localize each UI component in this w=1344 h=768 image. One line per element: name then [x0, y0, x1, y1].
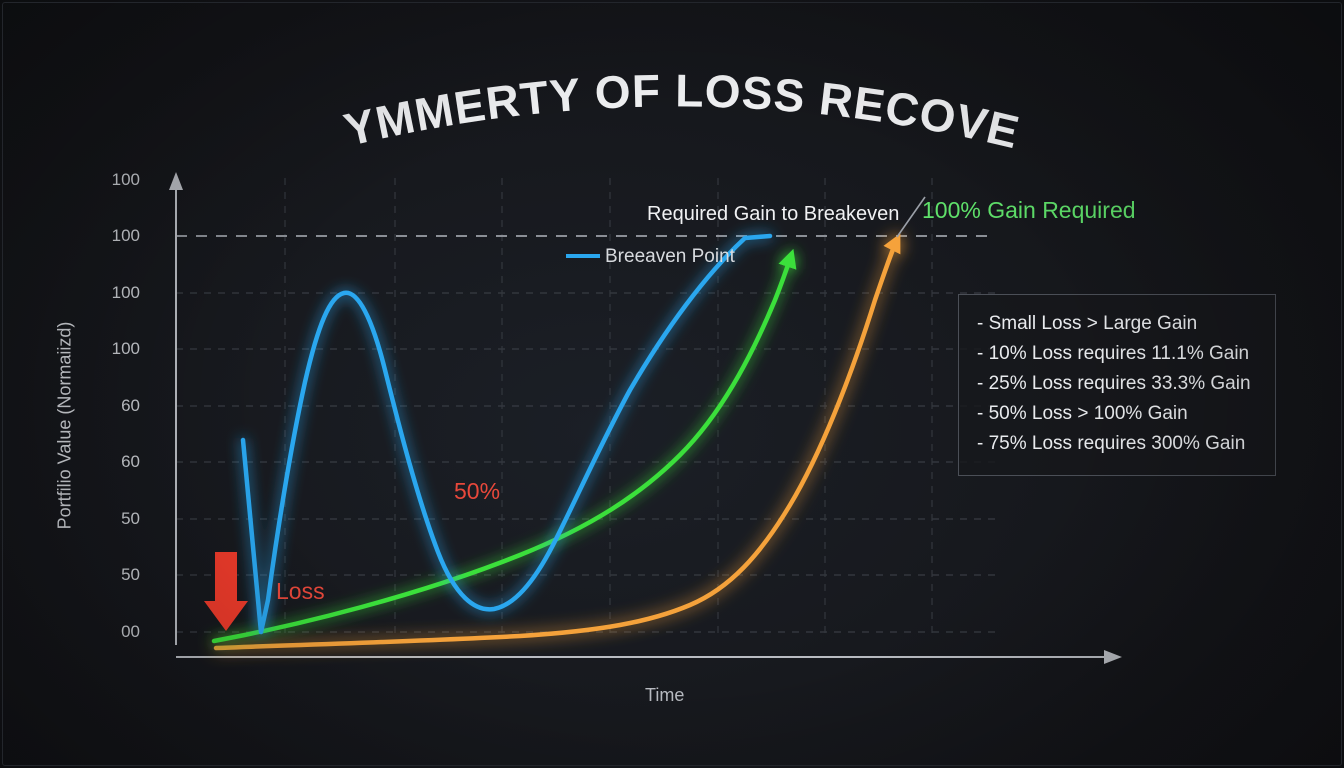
info-box-line: - 25% Loss requires 33.3% Gain: [977, 369, 1259, 399]
annotation-loss: Loss: [276, 578, 325, 605]
annotation-required-gain: Required Gain to Breakeven: [647, 203, 899, 226]
y-tick-label: 100: [84, 226, 140, 246]
y-tick-label: 100: [84, 283, 140, 303]
info-box-line: - 75% Loss requires 300% Gain: [977, 429, 1259, 459]
info-box: - Small Loss > Large Gain - 10% Loss req…: [958, 294, 1276, 476]
x-axis-label: Time: [645, 685, 684, 706]
series-blue-breakeven-point: [243, 236, 770, 632]
gain-callout-leader-line: [897, 197, 925, 237]
y-tick-label: 50: [84, 565, 140, 585]
loss-down-arrow-icon: [204, 552, 248, 631]
info-box-line: - Small Loss > Large Gain: [977, 309, 1259, 339]
annotation-gain-required: 100% Gain Required: [922, 197, 1136, 224]
y-tick-label: 60: [84, 396, 140, 416]
x-axis: [176, 650, 1122, 664]
annotation-fifty-percent: 50%: [454, 478, 500, 505]
info-box-line: - 50% Loss > 100% Gain: [977, 399, 1259, 429]
y-tick-label: 50: [84, 509, 140, 529]
legend-item-breakeven-point: Breeaven Point: [605, 246, 735, 268]
info-box-line: - 10% Loss requires 11.1% Gain: [977, 339, 1259, 369]
chart-canvas: ASYMMERTY OF LOSS RECOVERY: [0, 0, 1344, 768]
y-tick-label: 60: [84, 452, 140, 472]
y-tick-label: 100: [84, 170, 140, 190]
y-tick-label: 00: [84, 622, 140, 642]
y-tick-label: 100: [84, 339, 140, 359]
y-axis-label: Portfilio Value (Normaiizd): [55, 276, 76, 576]
y-axis: [169, 172, 183, 645]
